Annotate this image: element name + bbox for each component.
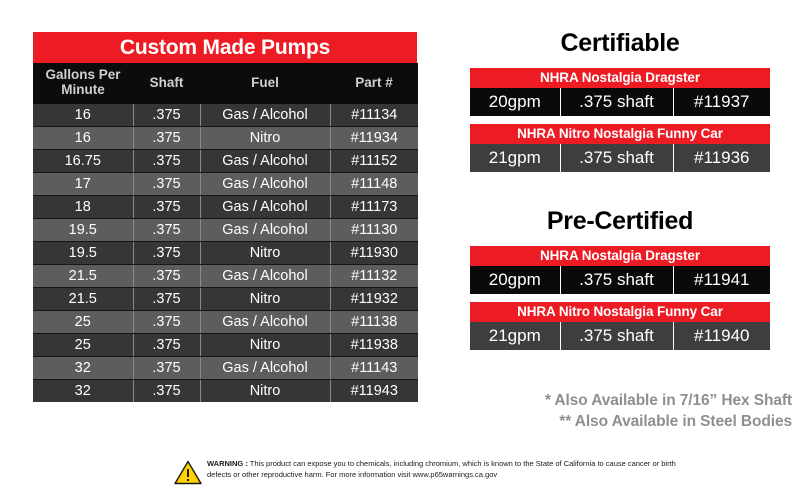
main-table-title: Custom Made Pumps [33, 32, 417, 63]
cell-fuel: Gas / Alcohol [200, 311, 330, 334]
prop65-warning: WARNING : This product can expose you to… [174, 459, 677, 485]
cell-gpm: 21.5 [33, 288, 133, 311]
class-band-row: NHRA Nostalgia Dragster [470, 68, 770, 88]
custom-made-pumps-table: Custom Made Pumps Gallons Per Minute Sha… [33, 32, 418, 402]
table-row: 32 .375 Nitro #11943 [33, 380, 418, 403]
cell-shaft: .375 [133, 380, 200, 403]
precertified-heading: Pre-Certified [470, 206, 770, 239]
cell-part: #11940 [673, 322, 770, 350]
cell-gpm: 21gpm [470, 322, 560, 350]
cell-shaft: .375 [133, 150, 200, 173]
cell-part: #11937 [673, 88, 770, 116]
table-row: 16 .375 Gas / Alcohol #11134 [33, 104, 418, 127]
cell-fuel: Gas / Alcohol [200, 265, 330, 288]
cell-gpm: 32 [33, 357, 133, 380]
cell-shaft: .375 shaft [560, 88, 673, 116]
cell-gpm: 17 [33, 173, 133, 196]
class-band-row: NHRA Nitro Nostalgia Funny Car [470, 302, 770, 322]
cell-fuel: Nitro [200, 127, 330, 150]
cell-shaft: .375 [133, 288, 200, 311]
cell-part: #11941 [673, 266, 770, 294]
table-row: 21.5 .375 Nitro #11932 [33, 288, 418, 311]
pumps-grid: Gallons Per Minute Shaft Fuel Part # 16 … [33, 63, 418, 402]
cell-gpm: 32 [33, 380, 133, 403]
cell-gpm: 25 [33, 311, 133, 334]
cell-gpm: 19.5 [33, 242, 133, 265]
warning-triangle-icon [174, 460, 202, 485]
table-row: 17 .375 Gas / Alcohol #11148 [33, 173, 418, 196]
cell-gpm: 21.5 [33, 265, 133, 288]
footnote-steel-bodies: ** Also Available in Steel Bodies [462, 411, 792, 432]
class-band-label: NHRA Nostalgia Dragster [470, 246, 770, 266]
cell-shaft: .375 [133, 265, 200, 288]
cell-fuel: Gas / Alcohol [200, 196, 330, 219]
column-header-fuel: Fuel [200, 63, 330, 104]
cell-part: #11134 [330, 104, 418, 127]
cell-gpm: 21gpm [470, 144, 560, 172]
cell-shaft: .375 [133, 334, 200, 357]
precertified-section: Pre-Certified NHRA Nostalgia Dragster 20… [470, 206, 770, 350]
class-band-label: NHRA Nitro Nostalgia Funny Car [470, 302, 770, 322]
cell-part: #11173 [330, 196, 418, 219]
table-row: 16.75 .375 Gas / Alcohol #11152 [33, 150, 418, 173]
cell-gpm: 16 [33, 104, 133, 127]
footnote-hex-shaft: * Also Available in 7/16” Hex Shaft [462, 390, 792, 411]
cell-gpm: 19.5 [33, 219, 133, 242]
cell-fuel: Gas / Alcohol [200, 104, 330, 127]
row-spacer [470, 116, 770, 124]
cell-gpm: 20gpm [470, 88, 560, 116]
warning-label: WARNING : [207, 459, 248, 468]
cell-gpm: 20gpm [470, 266, 560, 294]
cell-shaft: .375 [133, 196, 200, 219]
cell-shaft: .375 [133, 242, 200, 265]
cell-fuel: Nitro [200, 334, 330, 357]
cell-part: #11930 [330, 242, 418, 265]
pumps-grid-body: 16 .375 Gas / Alcohol #11134 16 .375 Nit… [33, 104, 418, 402]
class-band-row: NHRA Nitro Nostalgia Funny Car [470, 124, 770, 144]
class-band-label: NHRA Nitro Nostalgia Funny Car [470, 124, 770, 144]
cell-gpm: 16 [33, 127, 133, 150]
certifiable-section: Certifiable NHRA Nostalgia Dragster 20gp… [470, 28, 770, 172]
certifiable-heading: Certifiable [470, 28, 770, 61]
cell-fuel: Nitro [200, 288, 330, 311]
cell-shaft: .375 [133, 104, 200, 127]
table-row: 21gpm .375 shaft #11936 [470, 144, 770, 172]
cell-part: #11132 [330, 265, 418, 288]
column-header-gpm: Gallons Per Minute [33, 63, 133, 104]
cell-fuel: Nitro [200, 242, 330, 265]
table-row: 25 .375 Gas / Alcohol #11138 [33, 311, 418, 334]
cell-shaft: .375 shaft [560, 322, 673, 350]
cell-part: #11148 [330, 173, 418, 196]
cell-shaft: .375 [133, 173, 200, 196]
table-row: 20gpm .375 shaft #11937 [470, 88, 770, 116]
cell-gpm: 16.75 [33, 150, 133, 173]
cell-part: #11934 [330, 127, 418, 150]
column-header-shaft: Shaft [133, 63, 200, 104]
row-spacer [470, 294, 770, 302]
cell-fuel: Gas / Alcohol [200, 150, 330, 173]
cell-part: #11130 [330, 219, 418, 242]
cell-shaft: .375 shaft [560, 144, 673, 172]
cell-shaft: .375 [133, 219, 200, 242]
table-row: 21.5 .375 Gas / Alcohol #11132 [33, 265, 418, 288]
footnotes: * Also Available in 7/16” Hex Shaft ** A… [462, 390, 792, 432]
cell-part: #11938 [330, 334, 418, 357]
table-header-row: Gallons Per Minute Shaft Fuel Part # [33, 63, 418, 104]
certifiable-table: NHRA Nostalgia Dragster 20gpm .375 shaft… [470, 68, 770, 172]
cell-gpm: 18 [33, 196, 133, 219]
cell-part: #11143 [330, 357, 418, 380]
cell-part: #11152 [330, 150, 418, 173]
cell-gpm: 25 [33, 334, 133, 357]
cell-shaft: .375 [133, 357, 200, 380]
class-band-label: NHRA Nostalgia Dragster [470, 68, 770, 88]
table-row: 21gpm .375 shaft #11940 [470, 322, 770, 350]
cell-fuel: Nitro [200, 380, 330, 403]
class-band-row: NHRA Nostalgia Dragster [470, 246, 770, 266]
table-row: 32 .375 Gas / Alcohol #11143 [33, 357, 418, 380]
column-header-part: Part # [330, 63, 418, 104]
cell-part: #11138 [330, 311, 418, 334]
prop65-warning-text: WARNING : This product can expose you to… [207, 459, 677, 480]
table-row: 19.5 .375 Gas / Alcohol #11130 [33, 219, 418, 242]
cell-shaft: .375 shaft [560, 266, 673, 294]
cell-shaft: .375 [133, 311, 200, 334]
cell-fuel: Gas / Alcohol [200, 219, 330, 242]
warning-body: This product can expose you to chemicals… [207, 459, 676, 479]
cell-shaft: .375 [133, 127, 200, 150]
table-row: 20gpm .375 shaft #11941 [470, 266, 770, 294]
table-row: 19.5 .375 Nitro #11930 [33, 242, 418, 265]
table-row: 16 .375 Nitro #11934 [33, 127, 418, 150]
table-row: 18 .375 Gas / Alcohol #11173 [33, 196, 418, 219]
precertified-table: NHRA Nostalgia Dragster 20gpm .375 shaft… [470, 246, 770, 350]
cell-part: #11936 [673, 144, 770, 172]
cell-fuel: Gas / Alcohol [200, 357, 330, 380]
cell-part: #11943 [330, 380, 418, 403]
table-row: 25 .375 Nitro #11938 [33, 334, 418, 357]
cell-fuel: Gas / Alcohol [200, 173, 330, 196]
cell-part: #11932 [330, 288, 418, 311]
